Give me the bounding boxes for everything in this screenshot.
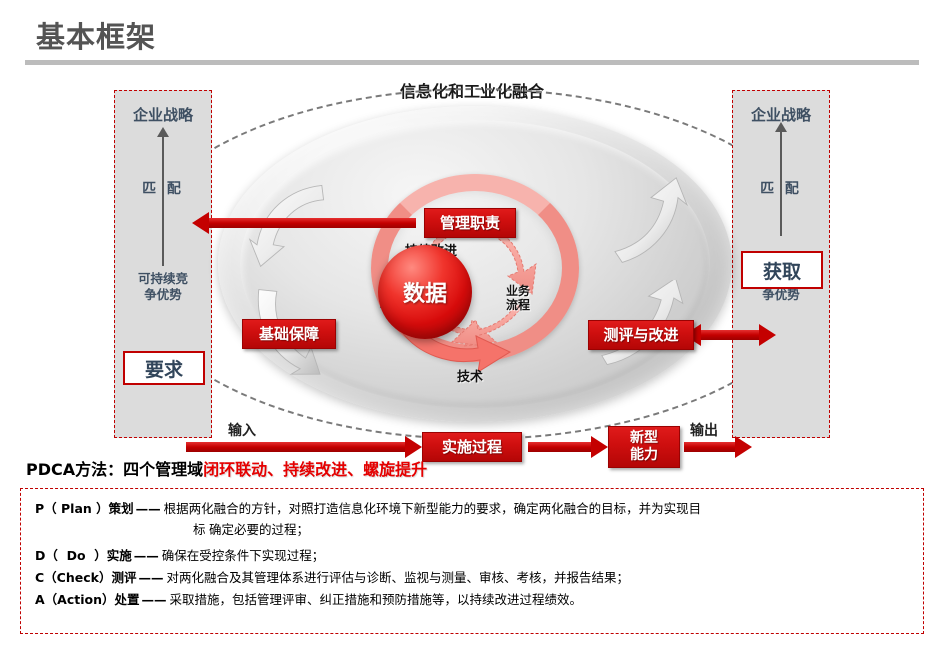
arrowhead-left-icon	[192, 212, 209, 234]
pdca-heading-black: PDCA方法：四个管理域	[26, 460, 203, 479]
pdca-dash-action: ——	[142, 590, 167, 609]
pdca-dash-plan: ——	[136, 499, 161, 518]
implementation-box[interactable]: 实施过程	[422, 432, 522, 462]
data-sphere-label: 数据	[403, 276, 447, 308]
arrowhead-right-d-icon	[735, 436, 752, 458]
arrowhead-right-c-icon	[591, 436, 608, 458]
framework-diagram: 信息化和工业化融合 企业战略 匹 配 可持续竞 争优势 要求 企业战略 匹 配 …	[0, 68, 944, 443]
left-panel-strategy-label: 企业战略	[115, 107, 211, 123]
slide-page: 基本框架 信息化和工业化融合 企业战略 匹 配 可持续竞 争优势 要求 企业战略…	[0, 0, 944, 657]
ring-label-right: 业务 流程	[506, 284, 530, 312]
pdca-desc-plan: 根据两化融合的方针，对照打造信息化环境下新型能力的要求，确定两化融合的目标，并为…	[164, 499, 909, 518]
requirement-box[interactable]: 要求	[123, 351, 205, 385]
left-strategy-panel: 企业战略 匹 配 可持续竞 争优势 要求	[114, 90, 212, 438]
arrow-implementation-to-newcap	[528, 442, 592, 452]
pdca-row-check: C（Check）测评 —— 对两化融合及其管理体系进行评估与诊断、监视与测量、审…	[35, 568, 909, 587]
right-panel-strategy-label: 企业战略	[733, 107, 829, 123]
pdca-key-plan: P（ Plan ）策划	[35, 499, 134, 518]
pdca-row-plan: P（ Plan ）策划 —— 根据两化融合的方针，对照打造信息化环境下新型能力的…	[35, 499, 909, 518]
management-responsibility-box[interactable]: 管理职责	[424, 208, 516, 238]
new-capability-box[interactable]: 新型 能力	[608, 426, 680, 468]
pdca-key-check: C（Check）测评	[35, 568, 136, 587]
pdca-desc-check: 对两化融合及其管理体系进行评估与诊断、监视与测量、审核、考核，并报告结果；	[166, 568, 909, 587]
pdca-heading: PDCA方法：四个管理域闭环联动、持续改进、螺旋提升	[26, 456, 427, 480]
arrow-management-to-strategy	[208, 218, 416, 228]
left-match-arrow-icon	[162, 136, 164, 266]
pdca-dash-do: ——	[134, 546, 159, 565]
pdca-key-action: A（Action）处置	[35, 590, 140, 609]
pdca-cont-plan: 标 确定必要的过程；	[193, 521, 909, 540]
arrow-requirement-to-implementation	[186, 442, 406, 452]
foundation-box[interactable]: 基础保障	[242, 319, 336, 349]
assessment-box[interactable]: 测评与改进	[588, 320, 694, 350]
right-panel-match-label: 匹 配	[733, 181, 829, 197]
right-strategy-panel: 企业战略 匹 配 可持续竞 争优势 获取	[732, 90, 830, 438]
pdca-desc-action: 采取措施，包括管理评审、纠正措施和预防措施等，以持续改进过程绩效。	[170, 590, 909, 609]
arrowhead-right-icon	[759, 324, 776, 346]
left-panel-match-label: 匹 配	[115, 181, 211, 197]
pdca-dash-check: ——	[138, 568, 163, 587]
data-sphere[interactable]: 数据	[378, 245, 472, 339]
white-arrow-top-right-icon	[606, 176, 696, 266]
page-title: 基本框架	[36, 14, 156, 56]
pdca-desc-do: 确保在受控条件下实现过程；	[162, 546, 909, 565]
ring-label-bottom: 技术	[457, 371, 483, 385]
pdca-row-do: D（ Do ）实施 —— 确保在受控条件下实现过程；	[35, 546, 909, 565]
output-label: 输出	[690, 420, 718, 440]
left-panel-advantage-label: 可持续竞 争优势	[115, 271, 211, 303]
arrow-assessment-to-acquire	[700, 330, 760, 340]
pdca-heading-red: 闭环联动、持续改进、螺旋提升	[203, 460, 427, 479]
arrowhead-right-b-icon	[405, 436, 422, 458]
pdca-key-do: D（ Do ）实施	[35, 546, 132, 565]
pdca-detail-box: P（ Plan ）策划 —— 根据两化融合的方针，对照打造信息化环境下新型能力的…	[20, 488, 924, 634]
acquire-box[interactable]: 获取	[741, 251, 823, 289]
input-label: 输入	[228, 420, 256, 440]
pdca-row-action: A（Action）处置 —— 采取措施，包括管理评审、纠正措施和预防措施等，以持…	[35, 590, 909, 609]
title-divider	[25, 60, 919, 65]
arrow-newcap-to-output	[684, 442, 736, 452]
